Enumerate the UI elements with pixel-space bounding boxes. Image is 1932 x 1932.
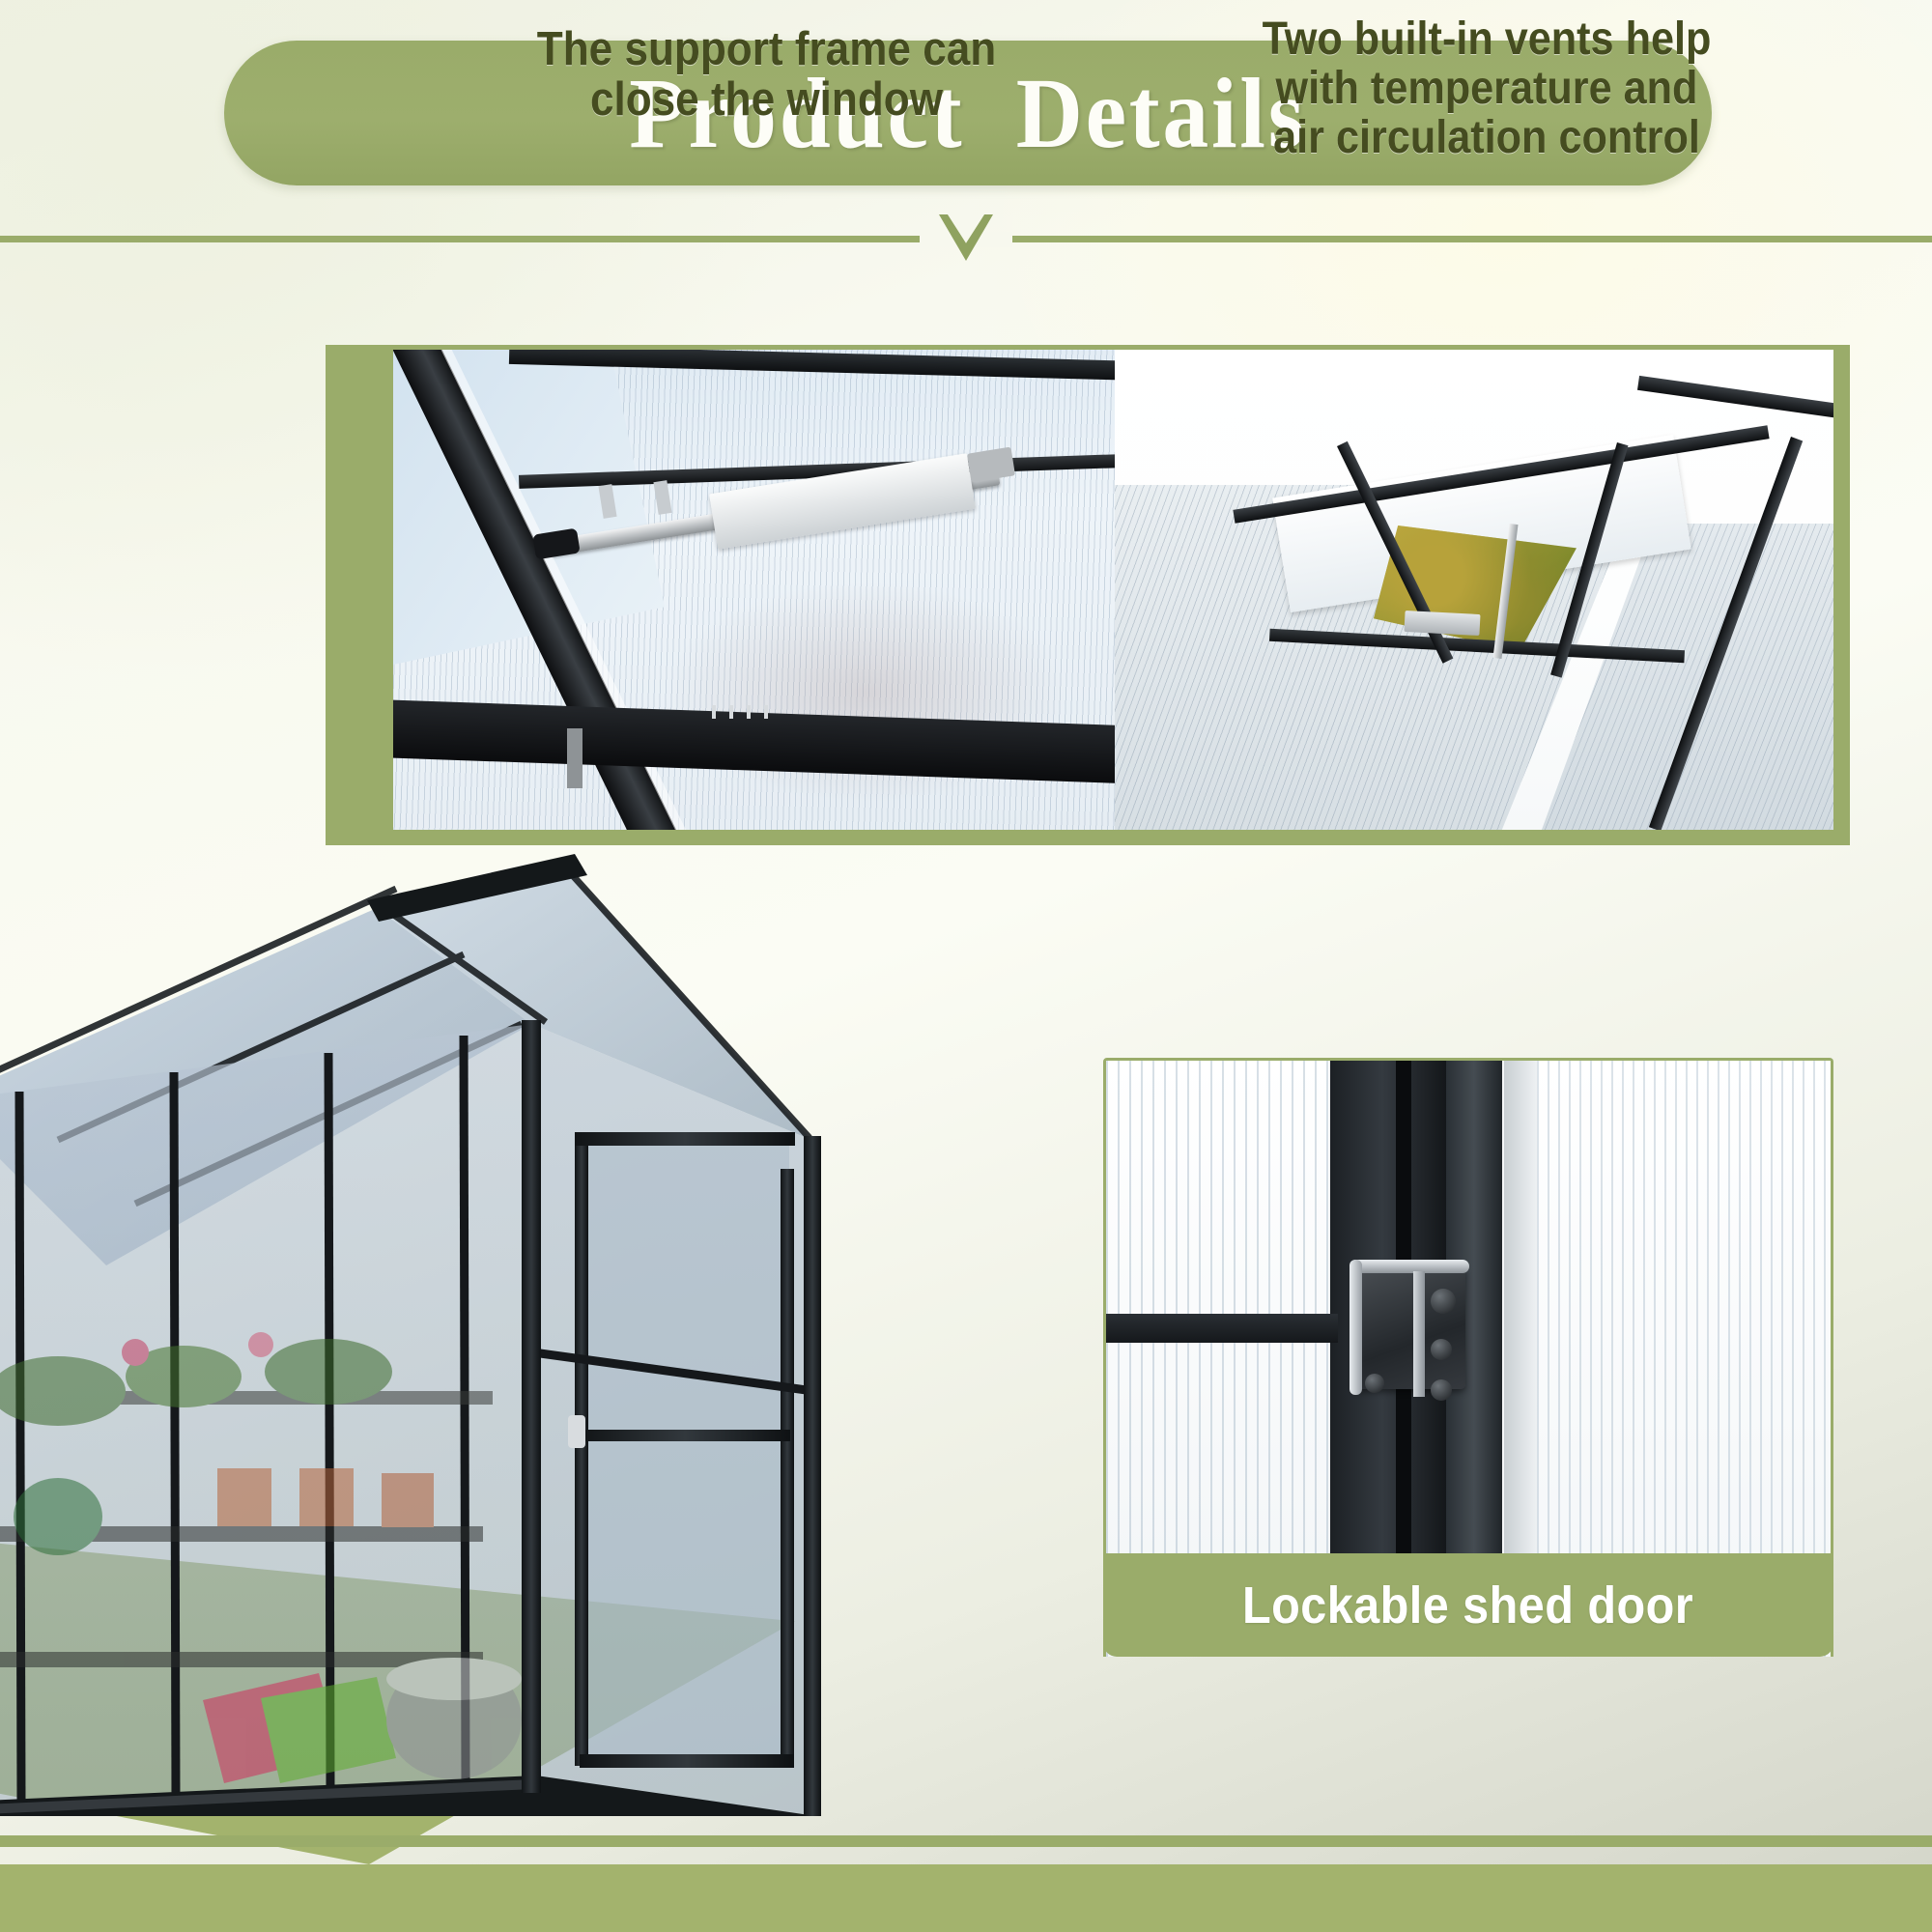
lock-screw-mid [1431, 1339, 1452, 1360]
hero-greenhouse-image [0, 850, 1082, 1816]
photo-support-frame [393, 350, 1115, 830]
corner-post-right [804, 1136, 821, 1816]
lock-caption-text: Lockable shed door [1242, 1576, 1693, 1635]
lock-hasp-loop-top [1350, 1260, 1469, 1273]
door-frame-right [781, 1169, 794, 1768]
door-frame-top [575, 1132, 795, 1146]
door-handle [568, 1415, 585, 1448]
door-mid-rail [580, 1430, 790, 1441]
photo-vents [1115, 350, 1833, 830]
greenhouse-illustration [0, 850, 1082, 1816]
footer-stripe [0, 1835, 1932, 1847]
lock-caption-bar: Lockable shed door [1103, 1553, 1833, 1657]
door-glass [582, 1140, 789, 1758]
sill-screws [712, 705, 780, 719]
lock-screw-top [1431, 1289, 1456, 1314]
vertical-post [567, 728, 582, 788]
door-frame-bottom [580, 1754, 794, 1768]
vent-strut-plate [1404, 611, 1480, 636]
caption-support-frame: The support frame can close the window [431, 25, 1103, 126]
footer-band [0, 1864, 1932, 1932]
door-frame-left [575, 1132, 588, 1766]
lock-staple [1413, 1271, 1425, 1397]
corner-post-front [522, 1020, 541, 1793]
lock-hasp-loop-side [1350, 1260, 1362, 1395]
lock-screw-bottom [1431, 1379, 1452, 1401]
top-feature-panel [326, 345, 1850, 845]
door-cross-rail [1106, 1314, 1338, 1343]
caption-vents: Two built-in vents help with temperature… [1175, 15, 1799, 163]
lock-hasp-plate [1353, 1267, 1465, 1389]
lock-screw-left [1365, 1374, 1384, 1393]
